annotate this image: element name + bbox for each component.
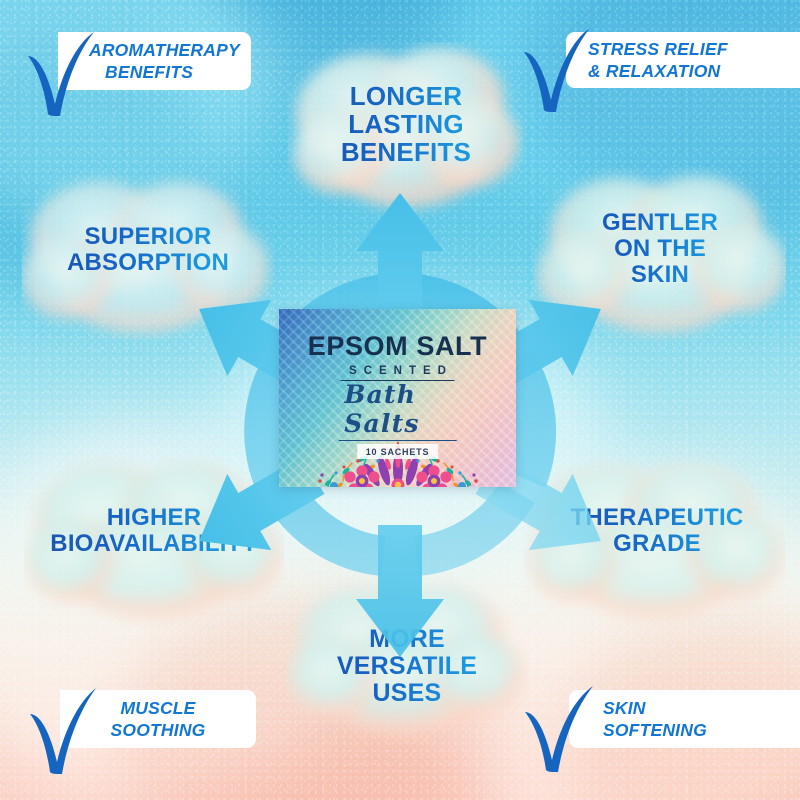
badge-line-1: AROMATHERAPY [89,39,251,61]
product-subtitle: SCENTED [340,365,455,381]
floral-mandala-artwork [300,397,496,487]
checkmark-icon [519,682,599,776]
checkmark-icon [24,684,102,778]
badge-aromatherapy-benefits[interactable]: AROMATHERAPY BENEFITS [0,32,251,90]
badge-line-2: SOOTHING [111,719,206,741]
infographic-canvas: LONGER LASTING BENEFITS SUPERIOR A [0,0,800,800]
checkmark-icon [22,30,100,120]
badge-line-2: SOFTENING [603,719,800,741]
badge-line-1: STRESS RELIEF [588,38,800,60]
badge-stress-relief[interactable]: STRESS RELIEF & RELAXATION [566,32,800,88]
badge-line-1: SKIN [603,697,800,719]
badge-line-1: MUSCLE [120,697,195,719]
product-title: EPSOM SALT [279,331,516,362]
sachet-count-badge: 10 SACHETS [357,444,439,459]
badge-line-2: BENEFITS [89,61,251,83]
checkmark-icon [518,24,596,116]
badge-skin-softening[interactable]: SKIN SOFTENING [569,690,800,748]
badge-muscle-soothing[interactable]: MUSCLE SOOTHING [0,690,256,748]
badge-line-2: & RELAXATION [588,60,800,82]
benefit-label-longer-lasting: LONGER LASTING BENEFITS [288,82,524,166]
product-package: EPSOM SALT SCENTED Bath Salts [279,309,516,487]
badge-plate: STRESS RELIEF & RELAXATION [566,32,800,88]
badge-plate: SKIN SOFTENING [569,690,800,748]
